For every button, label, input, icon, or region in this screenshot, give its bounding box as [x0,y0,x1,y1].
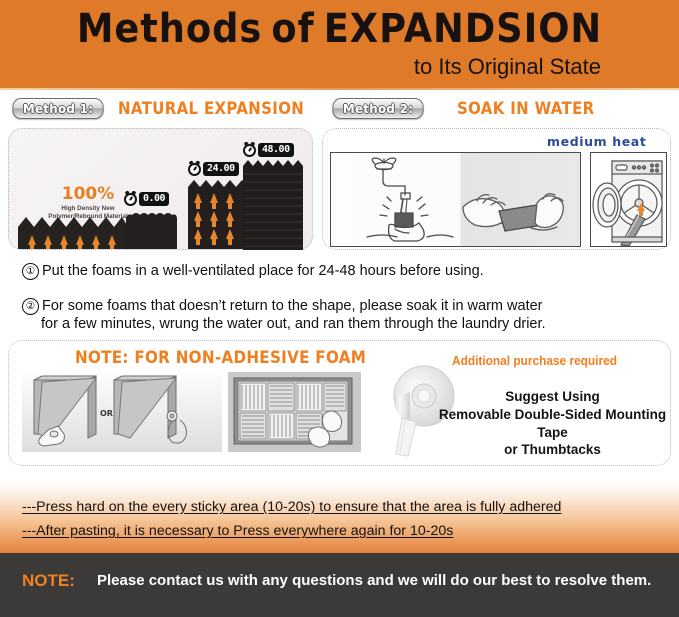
foam-material-line1: High Density New [61,205,114,212]
instruction-1-number: ① [22,263,39,280]
foam-wedge-art: OR [22,372,222,452]
timer-value-48: 48.00 [258,143,294,157]
title-word-expandsion: EXPANDSION [324,6,602,52]
medium-heat-label: medium heat [547,134,646,149]
method-1-badge: Method 1: [12,98,103,119]
press-instruction-1: ---Press hard on the every sticky area (… [22,499,561,515]
alarm-clock-icon [243,144,256,157]
faucet-hand-art [331,153,580,246]
foam-stage-half-expanded-art [188,179,250,251]
additional-purchase-label: Additional purchase required [452,354,617,368]
or-separator-label: OR [100,409,113,418]
suggest-line-3: or Thumbtacks [504,442,601,457]
instruction-1: ①Put the foams in a well-ventilated plac… [22,263,484,281]
foam-wedge-illustration: OR [22,372,222,452]
note-panel-heading: NOTE: FOR NON-ADHESIVE FOAM [75,348,366,367]
instruction-2-text-line2: for a few minutes, wrung the water out, … [41,316,546,334]
washing-machine-icon [591,153,666,246]
title-word-of: of [271,6,314,52]
suggest-line-2: Removable Double-Sided Mounting Tape [439,407,666,440]
soak-and-squeeze-illustration [330,152,581,247]
title-word-methods: Methods [77,6,262,52]
bottom-note-text: Please contact us with any questions and… [97,572,651,589]
suggest-line-1: Suggest Using [505,389,600,404]
timer-badge-24: 24.00 [188,162,239,176]
foam-stage-full-art [243,160,305,251]
foam-wall-art [228,372,361,452]
page-title: MethodsofEXPANDSION [27,6,652,52]
instruction-2-text-line1: For some foams that doesn’t return to th… [42,298,543,314]
alarm-clock-icon [124,193,137,206]
instruction-2: ②For some foams that doesn’t return to t… [22,298,546,333]
bottom-note-label: NOTE: [22,571,75,591]
suggest-text-block: Suggest Using Removable Double-Sided Mou… [430,388,675,459]
header-banner: MethodsofEXPANDSION to Its Original Stat… [0,0,679,88]
timer-badge-0: 0.00 [124,192,169,206]
timer-value-24: 24.00 [203,162,239,176]
header-divider [0,88,679,90]
method-2-title: SOAK IN WATER [457,99,595,119]
alarm-clock-icon [188,163,201,176]
instruction-1-text: Put the foams in a well-ventilated place… [42,263,484,279]
infographic-page: MethodsofEXPANDSION to Its Original Stat… [0,0,679,617]
foam-wall-illustration [228,372,361,452]
press-instructions-band [0,478,679,553]
instruction-2-number: ② [22,298,39,315]
method-2-badge: Method 2: [332,98,423,119]
laundry-dryer-illustration [590,152,667,247]
press-instruction-2: ---After pasting, it is necessary to Pre… [22,523,453,539]
page-subtitle: to Its Original State [0,54,679,80]
timer-value-0: 0.00 [139,192,169,206]
method-1-title: NATURAL EXPANSION [118,99,304,119]
timer-badge-48: 48.00 [243,143,294,157]
foam-stage-expanded-art [18,213,128,251]
foam-stage-compressed-art [124,209,179,251]
